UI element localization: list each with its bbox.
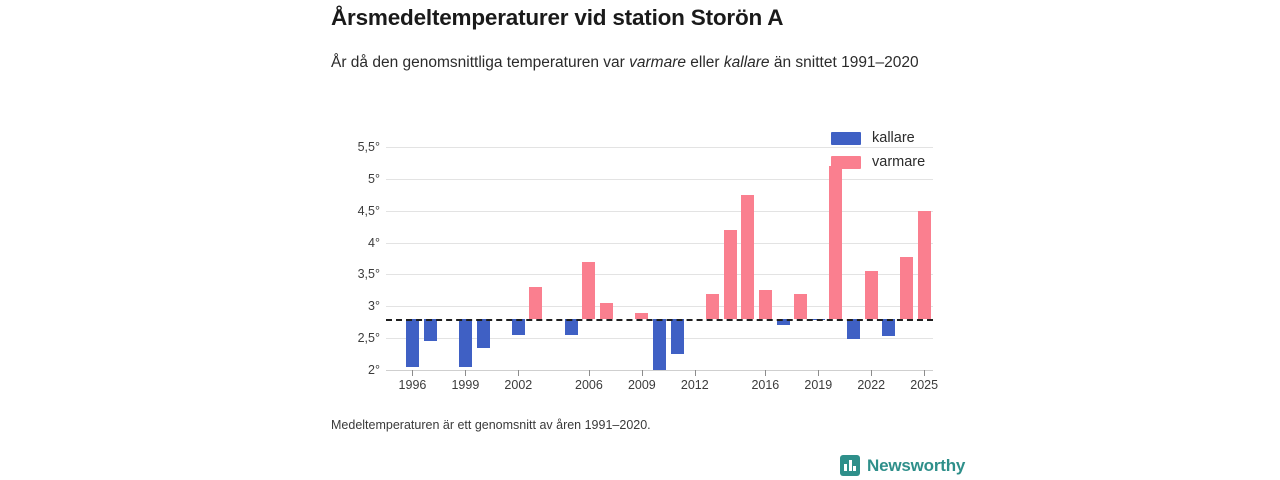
x-axis-tick-mark	[695, 370, 696, 376]
x-axis-tick-mark	[589, 370, 590, 376]
legend-swatch-varmare	[831, 156, 861, 169]
bar-2020[interactable]	[829, 166, 842, 319]
bar-2014[interactable]	[724, 230, 737, 319]
y-axis-tick-label: 5°	[320, 172, 380, 186]
x-axis-tick-label: 2009	[628, 378, 656, 392]
x-axis-tick-mark	[465, 370, 466, 376]
legend-label-varmare: varmare	[872, 154, 925, 170]
bar-series-container	[386, 147, 933, 370]
bar-2016[interactable]	[759, 290, 772, 319]
bar-1999[interactable]	[459, 319, 472, 367]
bar-2013[interactable]	[706, 294, 719, 319]
bar-chart-icon	[840, 455, 860, 476]
chart-page: Årsmedeltemperaturer vid station Storön …	[0, 0, 1280, 480]
x-axis-tick-label: 2016	[751, 378, 779, 392]
x-axis-tick-label: 2025	[910, 378, 938, 392]
bar-2024[interactable]	[900, 257, 913, 319]
x-axis-tick-mark	[412, 370, 413, 376]
chart-footnote: Medeltemperaturen är ett genomsnitt av å…	[331, 418, 651, 432]
x-axis-tick-label: 2006	[575, 378, 603, 392]
bar-2007[interactable]	[600, 303, 613, 319]
y-axis-tick-label: 5,5°	[320, 140, 380, 154]
y-axis-tick-label: 4,5°	[320, 204, 380, 218]
y-axis-tick-label: 2,5°	[320, 331, 380, 345]
x-axis-tick-label: 1996	[399, 378, 427, 392]
legend-swatch-kallare	[831, 132, 861, 145]
bar-1996[interactable]	[406, 319, 419, 367]
chart-legend: kallare varmare	[831, 128, 925, 176]
x-axis-tick-mark	[518, 370, 519, 376]
bar-2018[interactable]	[794, 294, 807, 319]
x-axis-tick-label: 2002	[504, 378, 532, 392]
legend-item-varmare[interactable]: varmare	[831, 152, 925, 172]
y-axis-tick-label: 3°	[320, 299, 380, 313]
y-axis-tick-label: 4°	[320, 236, 380, 250]
bar-2021[interactable]	[847, 319, 860, 339]
y-axis-tick-label: 3,5°	[320, 267, 380, 281]
bar-2005[interactable]	[565, 319, 578, 335]
bar-2006[interactable]	[582, 262, 595, 319]
brand-name: Newsworthy	[867, 456, 965, 476]
y-axis-labels: 2°2,5°3°3,5°4°4,5°5°5,5°	[316, 147, 380, 370]
x-axis-ticks: 1996199920022006200920122016201920222025	[386, 370, 933, 400]
legend-item-kallare[interactable]: kallare	[831, 128, 925, 148]
x-axis-tick-mark	[818, 370, 819, 376]
bar-2011[interactable]	[671, 319, 684, 354]
bar-1997[interactable]	[424, 319, 437, 341]
x-axis-tick-mark	[642, 370, 643, 376]
newsworthy-logo[interactable]: Newsworthy	[840, 455, 965, 476]
x-axis-tick-label: 2012	[681, 378, 709, 392]
plot-area	[386, 147, 933, 370]
x-axis-tick-label: 2019	[804, 378, 832, 392]
x-axis-tick-label: 2022	[857, 378, 885, 392]
x-axis-tick-mark	[765, 370, 766, 376]
bar-2015[interactable]	[741, 195, 754, 319]
bar-2025[interactable]	[918, 211, 931, 319]
bar-2000[interactable]	[477, 319, 490, 348]
mean-reference-line	[386, 319, 933, 321]
bar-2023[interactable]	[882, 319, 895, 336]
bar-chart: 2°2,5°3°3,5°4°4,5°5°5,5° 199619992002200…	[0, 0, 1280, 480]
bar-2010[interactable]	[653, 319, 666, 370]
x-axis-tick-mark	[924, 370, 925, 376]
bar-2022[interactable]	[865, 271, 878, 319]
x-axis-tick-label: 1999	[451, 378, 479, 392]
legend-label-kallare: kallare	[872, 130, 915, 146]
bar-2003[interactable]	[529, 287, 542, 319]
bar-2002[interactable]	[512, 319, 525, 335]
y-axis-tick-label: 2°	[320, 363, 380, 377]
x-axis-tick-mark	[871, 370, 872, 376]
